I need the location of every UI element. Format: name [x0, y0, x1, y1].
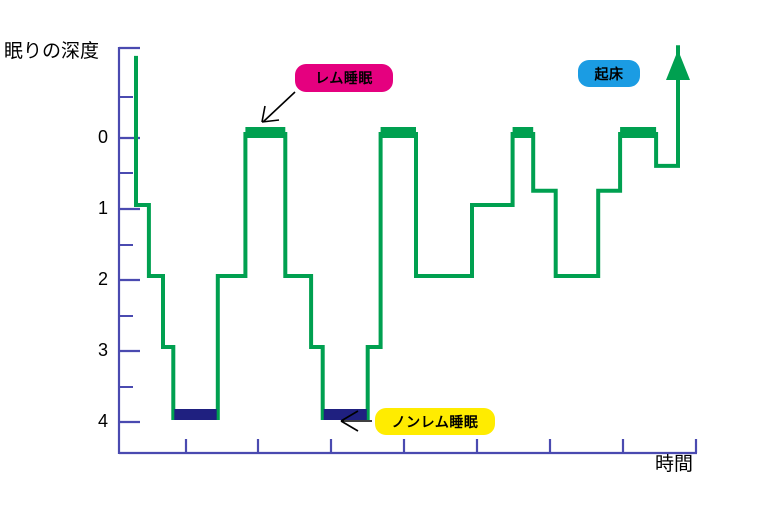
y-axis-minor-ticks [119, 97, 133, 387]
wake-arrow-head [666, 50, 690, 80]
rem-markers [245, 127, 656, 138]
non-rem-arrow-barb-2 [341, 421, 358, 431]
y-tick-label-1: 1 [86, 198, 108, 219]
non-rem-markers [174, 409, 367, 420]
y-tick-label-3: 3 [86, 340, 108, 361]
rem-marker-2 [381, 127, 416, 138]
axis-group [119, 47, 697, 454]
wake-up-label-badge: 起床 [578, 60, 640, 87]
x-axis-ticks [186, 439, 623, 453]
non-rem-marker-1 [174, 409, 216, 420]
wake-up-arrow-icon [666, 50, 690, 155]
y-axis-title: 眠りの深度 [4, 36, 99, 63]
non-rem-sleep-label-badge: ノンレム睡眠 [375, 408, 495, 435]
rem-marker-3 [513, 127, 534, 138]
rem-arrow-shaft [263, 92, 295, 122]
rem-sleep-label-badge: レム睡眠 [295, 64, 393, 92]
y-tick-label-0: 0 [86, 127, 108, 148]
y-tick-label-4: 4 [86, 411, 108, 432]
sleep-depth-chart: 眠りの深度 時間 0 1 2 3 4 レム睡眠 起床 ノンレム睡眠 [0, 0, 774, 522]
rem-annotation-arrow-icon [262, 92, 295, 122]
rem-marker-4 [620, 127, 656, 138]
sleep-depth-curve [136, 45, 678, 418]
y-tick-label-2: 2 [86, 269, 108, 290]
x-axis-title: 時間 [655, 449, 693, 476]
rem-marker-1 [245, 127, 285, 138]
